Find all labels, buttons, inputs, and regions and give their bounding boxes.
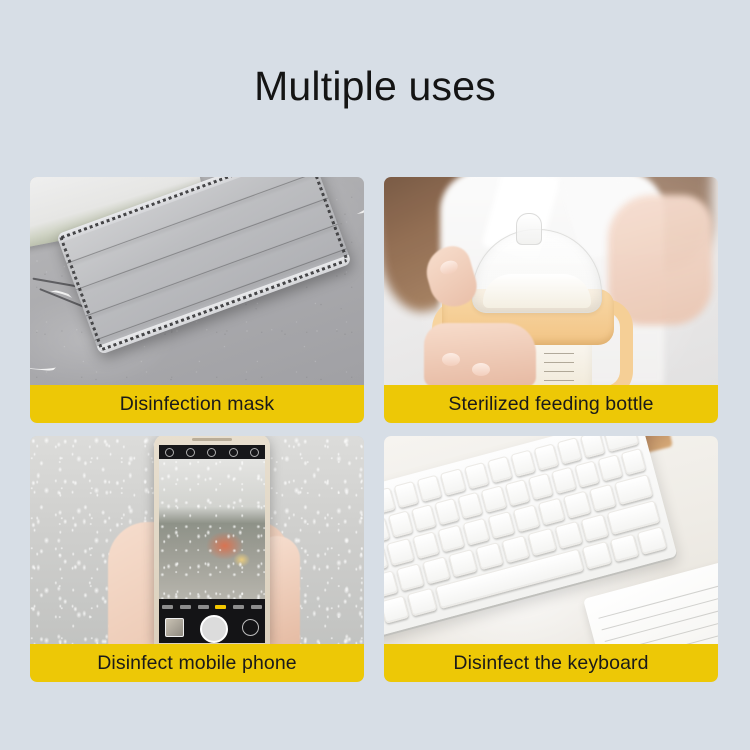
phone-screen (159, 445, 265, 643)
keyboard-key (396, 563, 424, 591)
live-photo-icon (207, 448, 216, 457)
keyboard-key (538, 497, 565, 525)
keyboard-key (554, 521, 582, 549)
mobile-phone-photo (30, 436, 364, 644)
keyboard-key (394, 481, 419, 508)
keyboard-key (564, 491, 591, 519)
keyboard-key (388, 510, 413, 537)
milk-inside (483, 274, 591, 308)
keyboard-key (422, 556, 450, 584)
camera-mode-option (198, 605, 209, 609)
camera-top-toolbar (159, 445, 265, 459)
timer-icon (229, 448, 238, 457)
keyboard-key (610, 534, 640, 563)
camera-mode-selector (159, 603, 265, 610)
camera-bottom-bar (159, 599, 265, 643)
shutter-button (200, 615, 228, 643)
smartphone (154, 436, 270, 644)
keyboard-key (528, 473, 553, 500)
keyboard-key (574, 460, 599, 487)
flip-camera-icon (242, 619, 259, 636)
keyboard-key (440, 468, 465, 495)
infographic-page: Multiple uses (0, 0, 750, 750)
keyboard-key (488, 511, 515, 539)
keyboard-key (581, 514, 609, 542)
use-case-grid: Disinfection mask (30, 177, 718, 681)
camera-mode-option-selected (215, 605, 226, 609)
keyboard-key (458, 492, 483, 519)
keyboard-key (384, 487, 396, 514)
keyboard-key (487, 456, 512, 483)
keyboard-key (502, 535, 530, 563)
keyboard-key (481, 485, 506, 512)
keyboard-key (475, 542, 503, 570)
keyboard-key (412, 531, 439, 559)
card-caption: Disinfect mobile phone (30, 644, 364, 682)
keyboard-key (637, 526, 667, 555)
keyboard-key (387, 538, 414, 566)
keyboard-key (598, 454, 623, 481)
fingernail (442, 353, 460, 366)
keyboard-key (463, 518, 490, 546)
keyboard-key (437, 525, 464, 553)
flash-icon (165, 448, 174, 457)
card-caption: Disinfect the keyboard (384, 644, 718, 682)
camera-viewfinder (159, 459, 265, 599)
keyboard-key (513, 504, 540, 532)
card-caption: Disinfection mask (30, 385, 364, 423)
keyboard-key (534, 443, 559, 470)
feeding-bottle-photo (384, 177, 718, 385)
keyboard-key (384, 595, 409, 624)
earpiece-speaker (192, 438, 232, 441)
keyboard-key (589, 484, 616, 512)
keyboard-key (614, 474, 653, 505)
camera-mode-option (180, 605, 191, 609)
fingernail (472, 363, 490, 376)
use-case-card-disinfect-the-keyboard[interactable]: Disinfect the keyboard (384, 436, 718, 682)
keyboard-key (504, 479, 529, 506)
keyboard-key (449, 549, 477, 577)
keyboard-key (417, 475, 442, 502)
bottle-nipple-tip (516, 213, 542, 245)
keyboard-photo (384, 436, 718, 644)
keyboard-key (510, 450, 535, 477)
page-title: Multiple uses (0, 61, 750, 111)
keyboard-key (557, 437, 582, 464)
keyboard-key (582, 541, 612, 570)
card-caption: Sterilized feeding bottle (384, 385, 718, 423)
camera-mode-option (162, 605, 173, 609)
keyboard-key (407, 588, 437, 617)
viewfinder-raindrops (159, 459, 265, 599)
gallery-thumbnail (165, 618, 184, 637)
camera-mode-option (233, 605, 244, 609)
use-case-card-disinfect-mobile-phone[interactable]: Disinfect mobile phone (30, 436, 364, 682)
keyboard-key (551, 467, 576, 494)
keyboard-key (464, 462, 489, 489)
filters-icon (250, 448, 259, 457)
keyboard-key (411, 504, 436, 531)
use-case-card-sterilized-feeding-bottle[interactable]: Sterilized feeding bottle (384, 177, 718, 423)
mask-photo (30, 177, 364, 385)
use-case-card-disinfection-mask[interactable]: Disinfection mask (30, 177, 364, 423)
hdr-icon (186, 448, 195, 457)
camera-mode-option (251, 605, 262, 609)
keyboard-key (580, 436, 605, 458)
keyboard-key (435, 498, 460, 525)
keyboard-key (528, 528, 556, 556)
keyboard-key (621, 448, 646, 475)
